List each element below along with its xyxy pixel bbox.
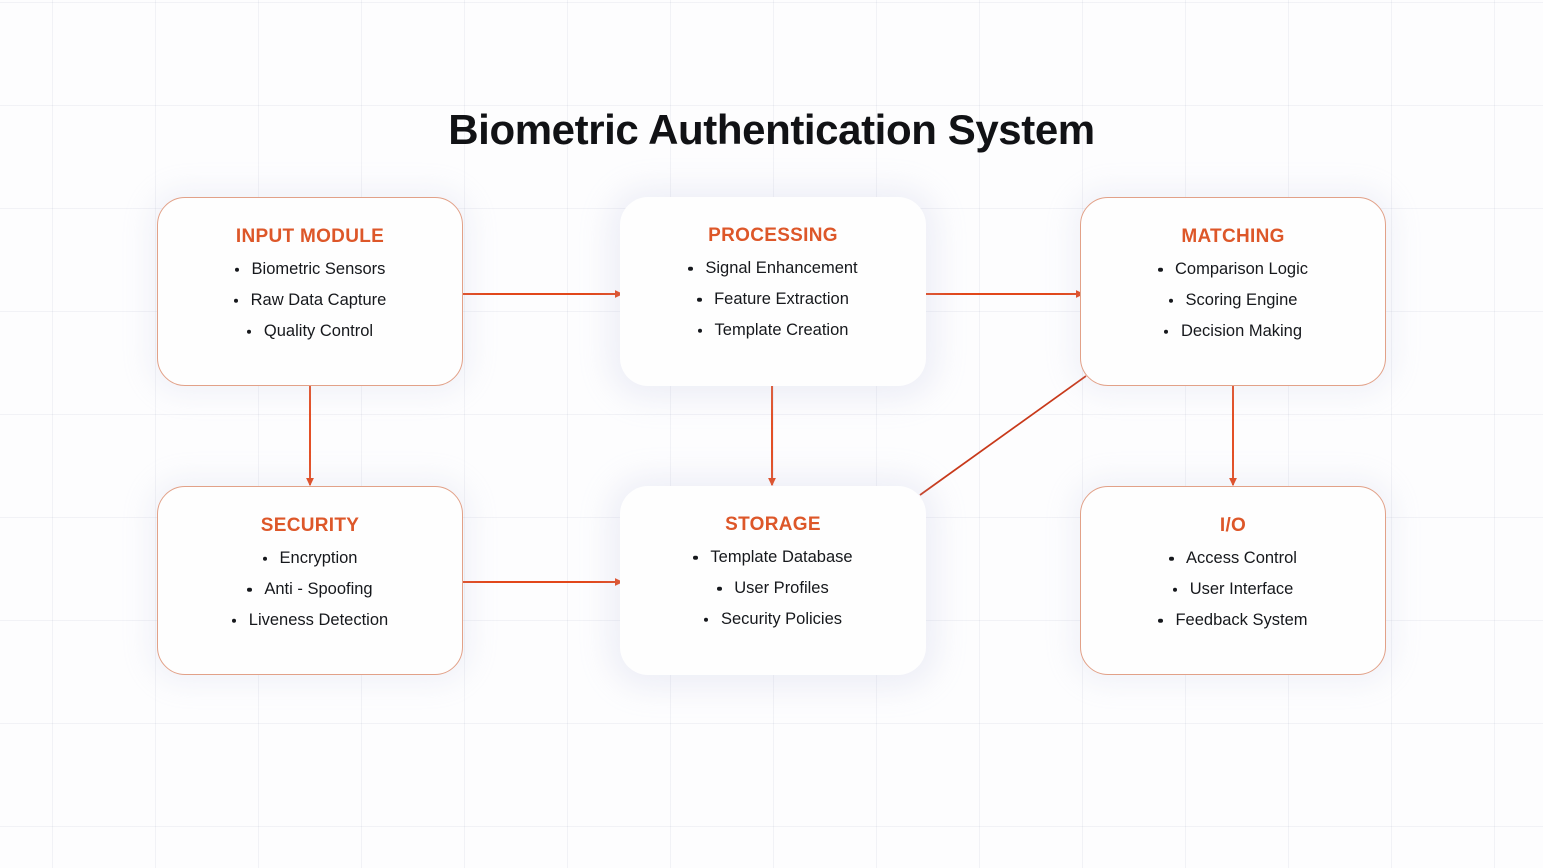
node-title: SECURITY [261, 515, 359, 537]
list-item: Raw Data Capture [234, 291, 387, 310]
connector-layer [0, 0, 1543, 868]
list-item: Template Creation [698, 321, 849, 340]
list-item: Biometric Sensors [235, 260, 386, 279]
edge-storage-to-matching [920, 376, 1086, 495]
node-title: MATCHING [1181, 226, 1284, 248]
list-item: Liveness Detection [232, 611, 388, 630]
node-item-list: Biometric Sensors Raw Data Capture Quali… [158, 260, 462, 341]
list-item: Decision Making [1164, 322, 1302, 341]
node-input-module[interactable]: INPUT MODULE Biometric Sensors Raw Data … [157, 197, 463, 386]
list-item: Anti - Spoofing [247, 580, 372, 599]
list-item: Security Policies [704, 610, 842, 629]
node-item-list: Template Database User Profiles Security… [620, 548, 926, 629]
list-item: Encryption [263, 549, 358, 568]
list-item: Signal Enhancement [688, 259, 857, 278]
node-item-list: Encryption Anti - Spoofing Liveness Dete… [158, 549, 462, 630]
node-item-list: Comparison Logic Scoring Engine Decision… [1081, 260, 1385, 341]
node-item-list: Signal Enhancement Feature Extraction Te… [620, 259, 926, 340]
list-item: Access Control [1169, 549, 1297, 568]
list-item: User Interface [1173, 580, 1294, 599]
list-item: Feedback System [1158, 611, 1307, 630]
node-item-list: Access Control User Interface Feedback S… [1081, 549, 1385, 630]
node-matching[interactable]: MATCHING Comparison Logic Scoring Engine… [1080, 197, 1386, 386]
node-storage[interactable]: STORAGE Template Database User Profiles … [620, 486, 926, 675]
node-title: STORAGE [725, 514, 821, 536]
list-item: Comparison Logic [1158, 260, 1308, 279]
node-title: PROCESSING [708, 225, 838, 247]
node-security[interactable]: SECURITY Encryption Anti - Spoofing Live… [157, 486, 463, 675]
list-item: Template Database [693, 548, 852, 567]
list-item: Quality Control [247, 322, 373, 341]
node-processing[interactable]: PROCESSING Signal Enhancement Feature Ex… [620, 197, 926, 386]
node-io[interactable]: I/O Access Control User Interface Feedba… [1080, 486, 1386, 675]
node-title: INPUT MODULE [236, 226, 384, 248]
list-item: User Profiles [717, 579, 828, 598]
list-item: Feature Extraction [697, 290, 849, 309]
diagram-canvas: INPUT MODULE Biometric Sensors Raw Data … [0, 0, 1543, 868]
node-title: I/O [1220, 515, 1246, 537]
list-item: Scoring Engine [1169, 291, 1298, 310]
